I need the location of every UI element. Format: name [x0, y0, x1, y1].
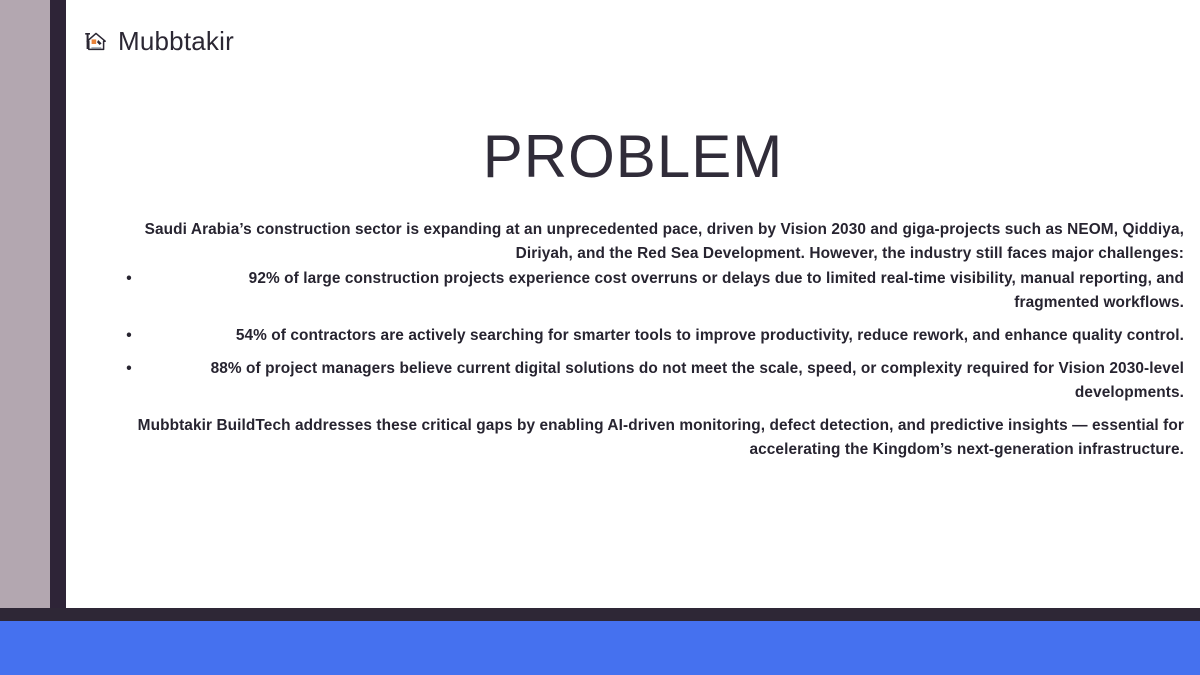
bullet-marker-icon: • [100, 324, 158, 348]
list-item-text: 88% of project managers believe current … [158, 357, 1184, 405]
bullet-marker-icon: • [100, 357, 158, 381]
bullet-marker-icon: • [100, 267, 158, 291]
decorative-band-dark-left [50, 0, 66, 608]
slide-content-area: Mubbtakir PROBLEM Saudi Arabia’s constru… [66, 0, 1200, 608]
list-item: • 54% of contractors are actively search… [100, 324, 1184, 348]
brand-name: Mubbtakir [118, 28, 234, 54]
brand-lockup: Mubbtakir [82, 28, 234, 54]
challenges-list: • 92% of large construction projects exp… [100, 267, 1184, 405]
closing-paragraph: Mubbtakir BuildTech addresses these crit… [100, 414, 1184, 462]
slide-canvas: Mubbtakir PROBLEM Saudi Arabia’s constru… [0, 0, 1200, 675]
intro-paragraph: Saudi Arabia’s construction sector is ex… [100, 218, 1184, 266]
decorative-band-blue-bottom [0, 621, 1200, 675]
list-item-text: 92% of large construction projects exper… [158, 267, 1184, 315]
list-item: • 92% of large construction projects exp… [100, 267, 1184, 315]
page-title: PROBLEM [66, 124, 1200, 190]
decorative-band-dark-bottom [0, 608, 1200, 621]
list-item: • 88% of project managers believe curren… [100, 357, 1184, 405]
house-construction-icon [82, 28, 108, 54]
decorative-band-mauve [0, 0, 50, 608]
problem-body: Saudi Arabia’s construction sector is ex… [100, 218, 1184, 462]
list-item-text: 54% of contractors are actively searchin… [158, 324, 1184, 348]
